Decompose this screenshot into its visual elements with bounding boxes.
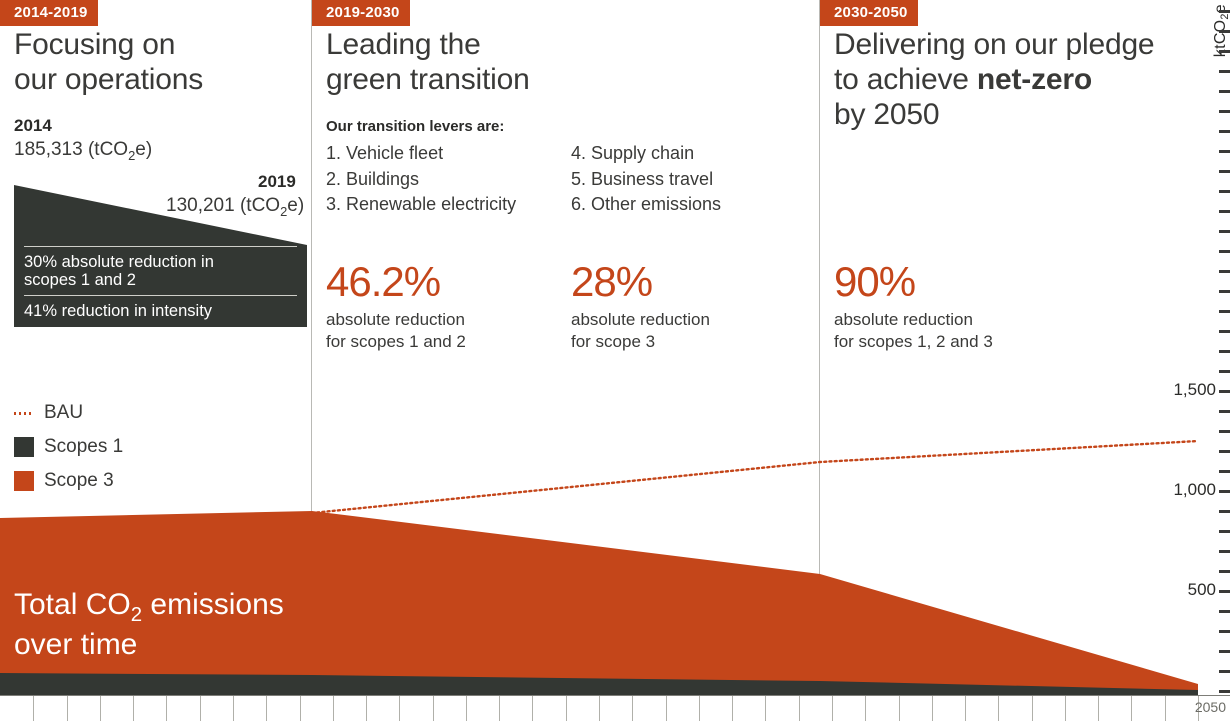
y-tick-label-1500: 1,500: [1173, 380, 1216, 400]
x-tick: [1098, 696, 1099, 721]
y-tick: [1219, 310, 1230, 313]
x-tick: [33, 696, 34, 721]
headline-column-2: Leading the green transition: [326, 28, 530, 98]
x-tick: [200, 696, 201, 721]
y-tick: [1219, 610, 1230, 613]
stat-28-percent: 28% absolute reduction for scope 3: [571, 261, 710, 354]
wedge-rule-bottom: [24, 295, 297, 296]
wedge-rule-top: [24, 246, 297, 247]
y-tick: [1219, 130, 1230, 133]
lever-item-2: 2. Buildings: [326, 167, 516, 193]
x-tick: [599, 696, 600, 721]
y-tick: [1219, 270, 1230, 273]
legend-item-scope-3: Scope 3: [14, 464, 123, 498]
x-tick: [666, 696, 667, 721]
badge-2019-2030: 2019-2030: [312, 0, 410, 26]
badge-2014-2019: 2014-2019: [0, 0, 98, 26]
y-tick: [1219, 490, 1230, 493]
x-tick: [632, 696, 633, 721]
legend-label-scope-3: Scope 3: [44, 470, 114, 492]
x-tick: [466, 696, 467, 721]
x-tick: [832, 696, 833, 721]
stat-description: absolute reduction for scopes 1, 2 and 3: [834, 309, 993, 354]
y-tick: [1219, 290, 1230, 293]
x-tick: [899, 696, 900, 721]
lever-item-1: 1. Vehicle fleet: [326, 141, 516, 167]
stat-number: 90%: [834, 261, 993, 303]
chart-overlay-title-line-1: Total CO2 emissions: [14, 588, 284, 628]
headline-column-1: Focusing on our operations: [14, 28, 203, 98]
x-tick: [998, 696, 999, 721]
y-tick: [1219, 330, 1230, 333]
x-tick: [932, 696, 933, 721]
stat-number: 46.2%: [326, 261, 466, 303]
y-tick: [1219, 10, 1230, 13]
scope-3-swatch-icon: [14, 471, 34, 491]
x-tick: [566, 696, 567, 721]
y-tick: [1219, 110, 1230, 113]
stat-desc-line-2: for scopes 1, 2 and 3: [834, 331, 993, 353]
x-tick: [732, 696, 733, 721]
stat-description: absolute reduction for scopes 1 and 2: [326, 309, 466, 354]
x-tick: [233, 696, 234, 721]
x-tick: [399, 696, 400, 721]
year-2014-value: 185,313 (tCO2e): [14, 139, 152, 163]
column-2019-2030: [312, 0, 820, 720]
y-tick: [1219, 190, 1230, 193]
scopes-1-swatch-icon: [14, 437, 34, 457]
legend-item-bau: BAU: [14, 396, 123, 430]
x-tick: [100, 696, 101, 721]
wedge-stat-1: 30% absolute reduction inscopes 1 and 2: [24, 253, 299, 290]
x-tick: [333, 696, 334, 721]
y-tick: [1219, 70, 1230, 73]
y-tick: [1219, 570, 1230, 573]
chart-overlay-title-line-2: over time: [14, 628, 284, 663]
x-tick: [1032, 696, 1033, 721]
scopes-1-2-reduction-panel: 30% absolute reduction inscopes 1 and 2 …: [14, 185, 307, 327]
y-tick: [1219, 430, 1230, 433]
y-tick: [1219, 230, 1230, 233]
lever-item-4: 4. Supply chain: [571, 141, 721, 167]
y-tick: [1219, 90, 1230, 93]
y-tick: [1219, 370, 1230, 373]
headline-emphasis: net-zero: [977, 63, 1092, 96]
headline-column-3: Delivering on our pledge to achieve net-…: [834, 28, 1154, 132]
wedge-stat-2: 41% reduction in intensity: [24, 302, 299, 320]
headline-line-3: by 2050: [834, 98, 1154, 133]
headline-line-1: Focusing on: [14, 28, 203, 63]
stat-description: absolute reduction for scope 3: [571, 309, 710, 354]
stat-number: 28%: [571, 261, 710, 303]
x-tick: [699, 696, 700, 721]
y-tick: [1219, 410, 1230, 413]
y-tick: [1219, 510, 1230, 513]
levers-heading: Our transition levers are:: [326, 118, 504, 135]
headline-line-2: our operations: [14, 63, 203, 98]
x-tick: [266, 696, 267, 721]
headline-line-1: Delivering on our pledge: [834, 28, 1154, 63]
y-tick: [1219, 450, 1230, 453]
y-tick: [1219, 350, 1230, 353]
y-tick: [1219, 390, 1230, 393]
y-tick: [1219, 50, 1230, 53]
y-tick: [1219, 170, 1230, 173]
stat-desc-line-2: for scope 3: [571, 331, 710, 353]
y-tick: [1219, 250, 1230, 253]
y-tick: [1219, 650, 1230, 653]
y-tick-label-1000: 1,000: [1173, 480, 1216, 500]
y-tick: [1219, 550, 1230, 553]
x-tick: [1165, 696, 1166, 721]
x-tick: [433, 696, 434, 721]
x-tick: [1065, 696, 1066, 721]
x-axis: 2050: [0, 695, 1230, 721]
y-tick: [1219, 30, 1230, 33]
stat-desc-line-1: absolute reduction: [834, 309, 993, 331]
x-tick: [799, 696, 800, 721]
x-tick: [965, 696, 966, 721]
chart-overlay-title: Total CO2 emissions over time: [14, 588, 284, 662]
infographic-root: 2014-2019 Focusing on our operations 201…: [0, 0, 1230, 720]
lever-item-3: 3. Renewable electricity: [326, 192, 516, 218]
y-tick: [1219, 150, 1230, 153]
levers-list-right: 4. Supply chain 5. Business travel 6. Ot…: [571, 141, 721, 218]
bau-dotted-swatch-icon: [14, 412, 34, 415]
y-axis: ktCO2e 1,500 1,000 500: [1198, 0, 1230, 700]
x-tick: [67, 696, 68, 721]
y-tick: [1219, 690, 1230, 693]
stat-90-percent: 90% absolute reduction for scopes 1, 2 a…: [834, 261, 993, 354]
x-tick: [366, 696, 367, 721]
y-tick: [1219, 630, 1230, 633]
x-tick: [532, 696, 533, 721]
x-tick: [300, 696, 301, 721]
x-tick: [865, 696, 866, 721]
chart-legend: BAU Scopes 1 Scope 3: [14, 396, 123, 498]
headline-line-1: Leading the: [326, 28, 530, 63]
x-tick: [765, 696, 766, 721]
legend-label-bau: BAU: [44, 402, 83, 424]
levers-list-left: 1. Vehicle fleet 2. Buildings 3. Renewab…: [326, 141, 516, 218]
badge-2030-2050: 2030-2050: [820, 0, 918, 26]
stat-desc-line-1: absolute reduction: [571, 309, 710, 331]
headline-line-2: green transition: [326, 63, 530, 98]
lever-item-6: 6. Other emissions: [571, 192, 721, 218]
year-2014-label: 2014: [14, 116, 52, 136]
stat-46-2-percent: 46.2% absolute reduction for scopes 1 an…: [326, 261, 466, 354]
y-tick: [1219, 530, 1230, 533]
headline-line-2: to achieve net-zero: [834, 63, 1154, 98]
y-tick: [1219, 590, 1230, 593]
y-tick: [1219, 670, 1230, 673]
legend-item-scopes-1: Scopes 1: [14, 430, 123, 464]
legend-label-scopes-1: Scopes 1: [44, 436, 123, 458]
x-tick: [1131, 696, 1132, 721]
lever-item-5: 5. Business travel: [571, 167, 721, 193]
x-tick: [166, 696, 167, 721]
y-tick: [1219, 210, 1230, 213]
x-axis-end-label: 2050: [1195, 699, 1226, 715]
stat-desc-line-2: for scopes 1 and 2: [326, 331, 466, 353]
x-tick: [133, 696, 134, 721]
y-tick-label-500: 500: [1188, 580, 1216, 600]
x-tick: [499, 696, 500, 721]
stat-desc-line-1: absolute reduction: [326, 309, 466, 331]
y-tick: [1219, 470, 1230, 473]
